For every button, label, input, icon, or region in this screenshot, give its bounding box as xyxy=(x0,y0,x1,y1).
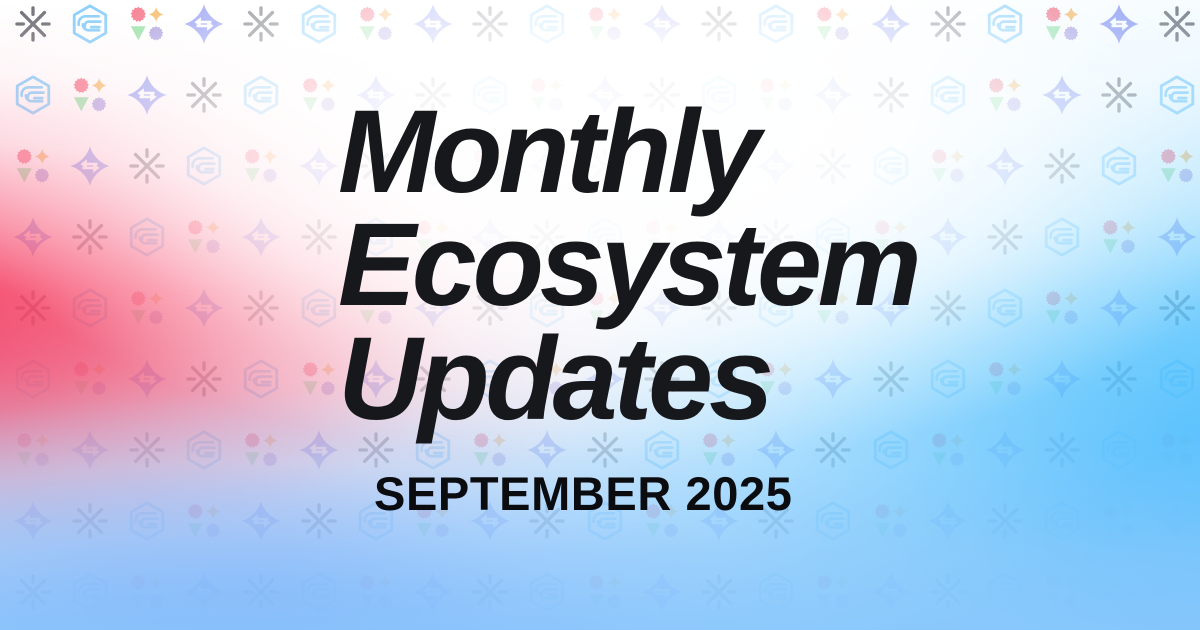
issue-date-label: SEPTEMBER 2025 xyxy=(374,466,793,521)
text-layer: Monthly Ecosystem Updates SEPTEMBER 2025 xyxy=(0,0,1200,630)
page-title: Monthly Ecosystem Updates xyxy=(338,96,991,436)
monthly-ecosystem-updates-banner: Monthly Ecosystem Updates SEPTEMBER 2025 xyxy=(0,0,1200,630)
